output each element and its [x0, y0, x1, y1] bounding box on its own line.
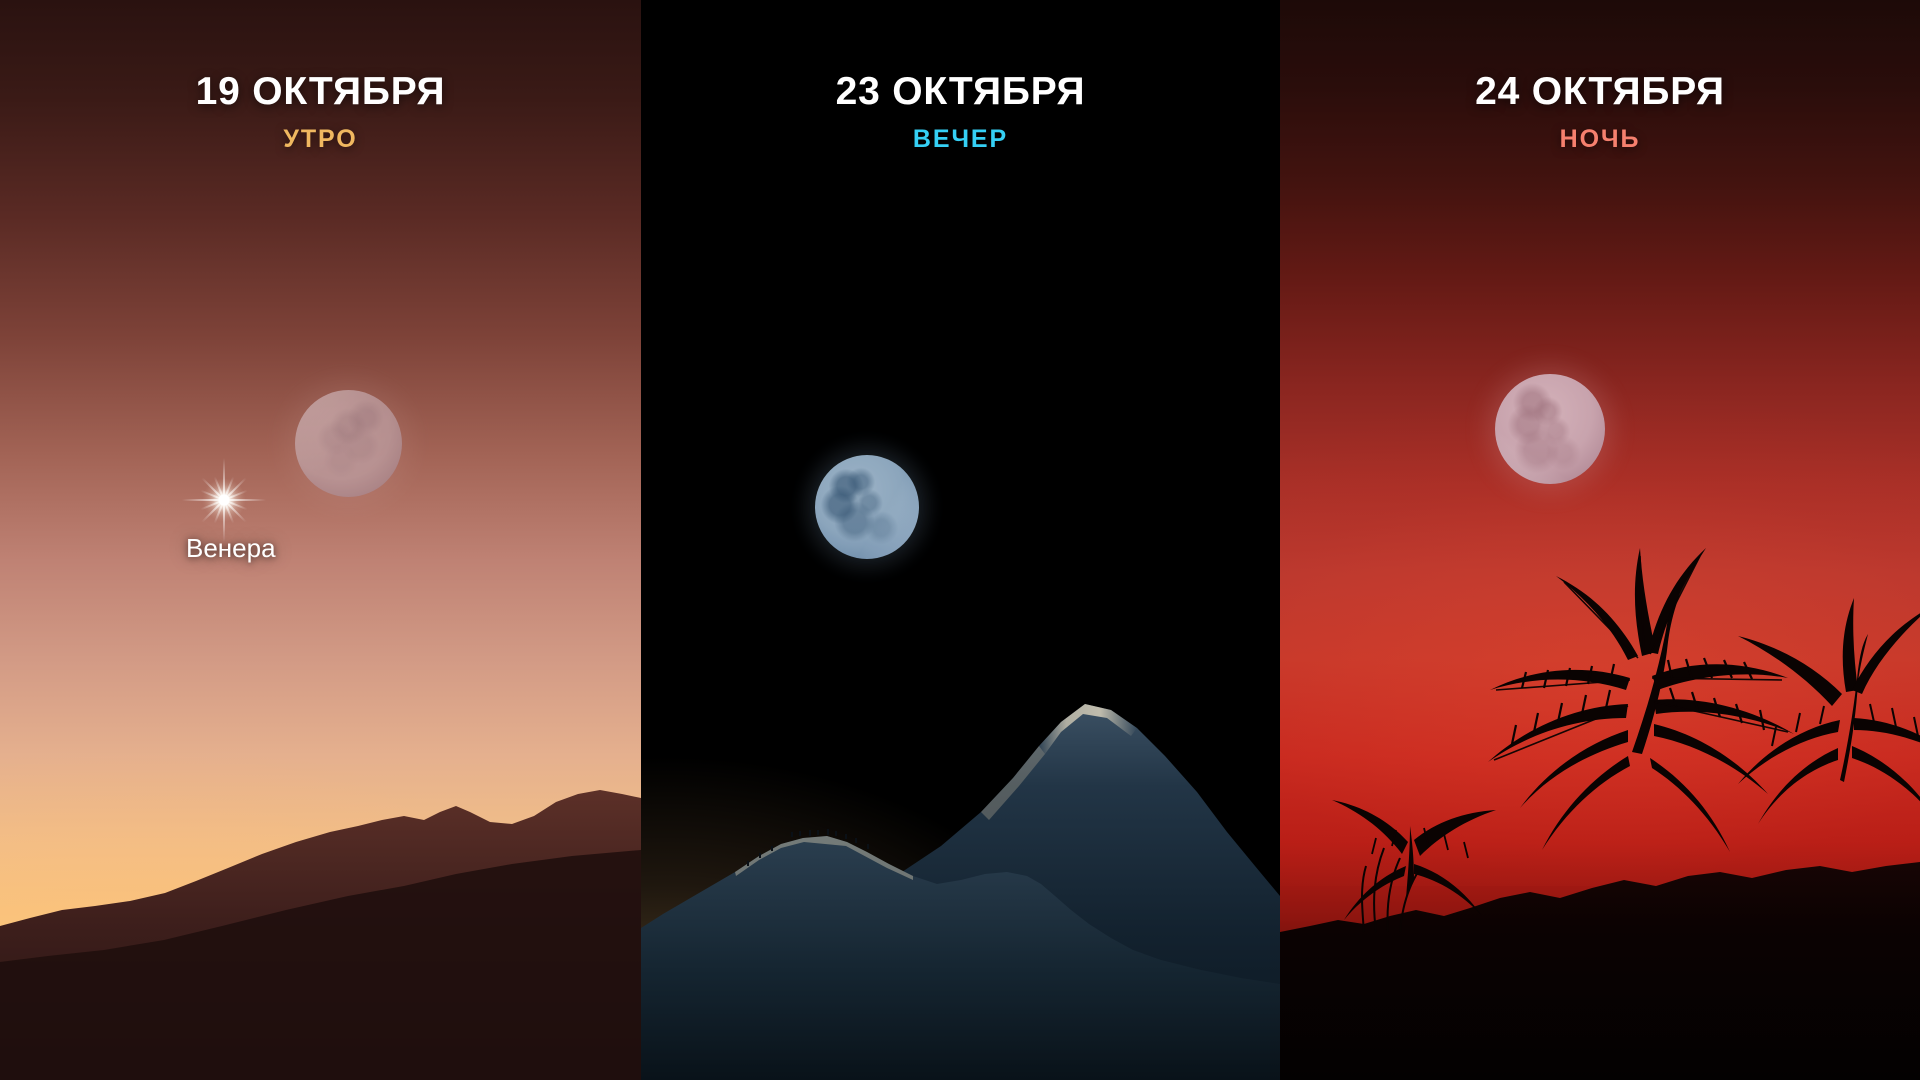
- landscape-hills-silhouette: [0, 750, 641, 1080]
- panel-evening-23-october[interactable]: Марс Меркурий 23 ОКТЯБРЯ ВЕЧЕР: [641, 0, 1280, 1080]
- astronomy-panels-stage: Венера 19 ОКТЯБРЯ УТРО: [0, 0, 1920, 1080]
- venus-core: [219, 495, 230, 506]
- label-venus: Венера: [186, 535, 276, 561]
- moon-disc-icon: [815, 455, 919, 559]
- moon-disc-icon: [1495, 374, 1605, 484]
- moon-disc-icon: [295, 390, 402, 497]
- venus-star-burst-icon: [222, 498, 226, 502]
- landscape-volcano-silhouette: [641, 660, 1280, 1080]
- panel-morning-19-october[interactable]: Венера 19 ОКТЯБРЯ УТРО: [0, 0, 641, 1080]
- landscape-palms-silhouette: [1280, 480, 1920, 1080]
- panel-night-24-october[interactable]: Антарес 24 ОКТЯБРЯ НОЧЬ: [1280, 0, 1920, 1080]
